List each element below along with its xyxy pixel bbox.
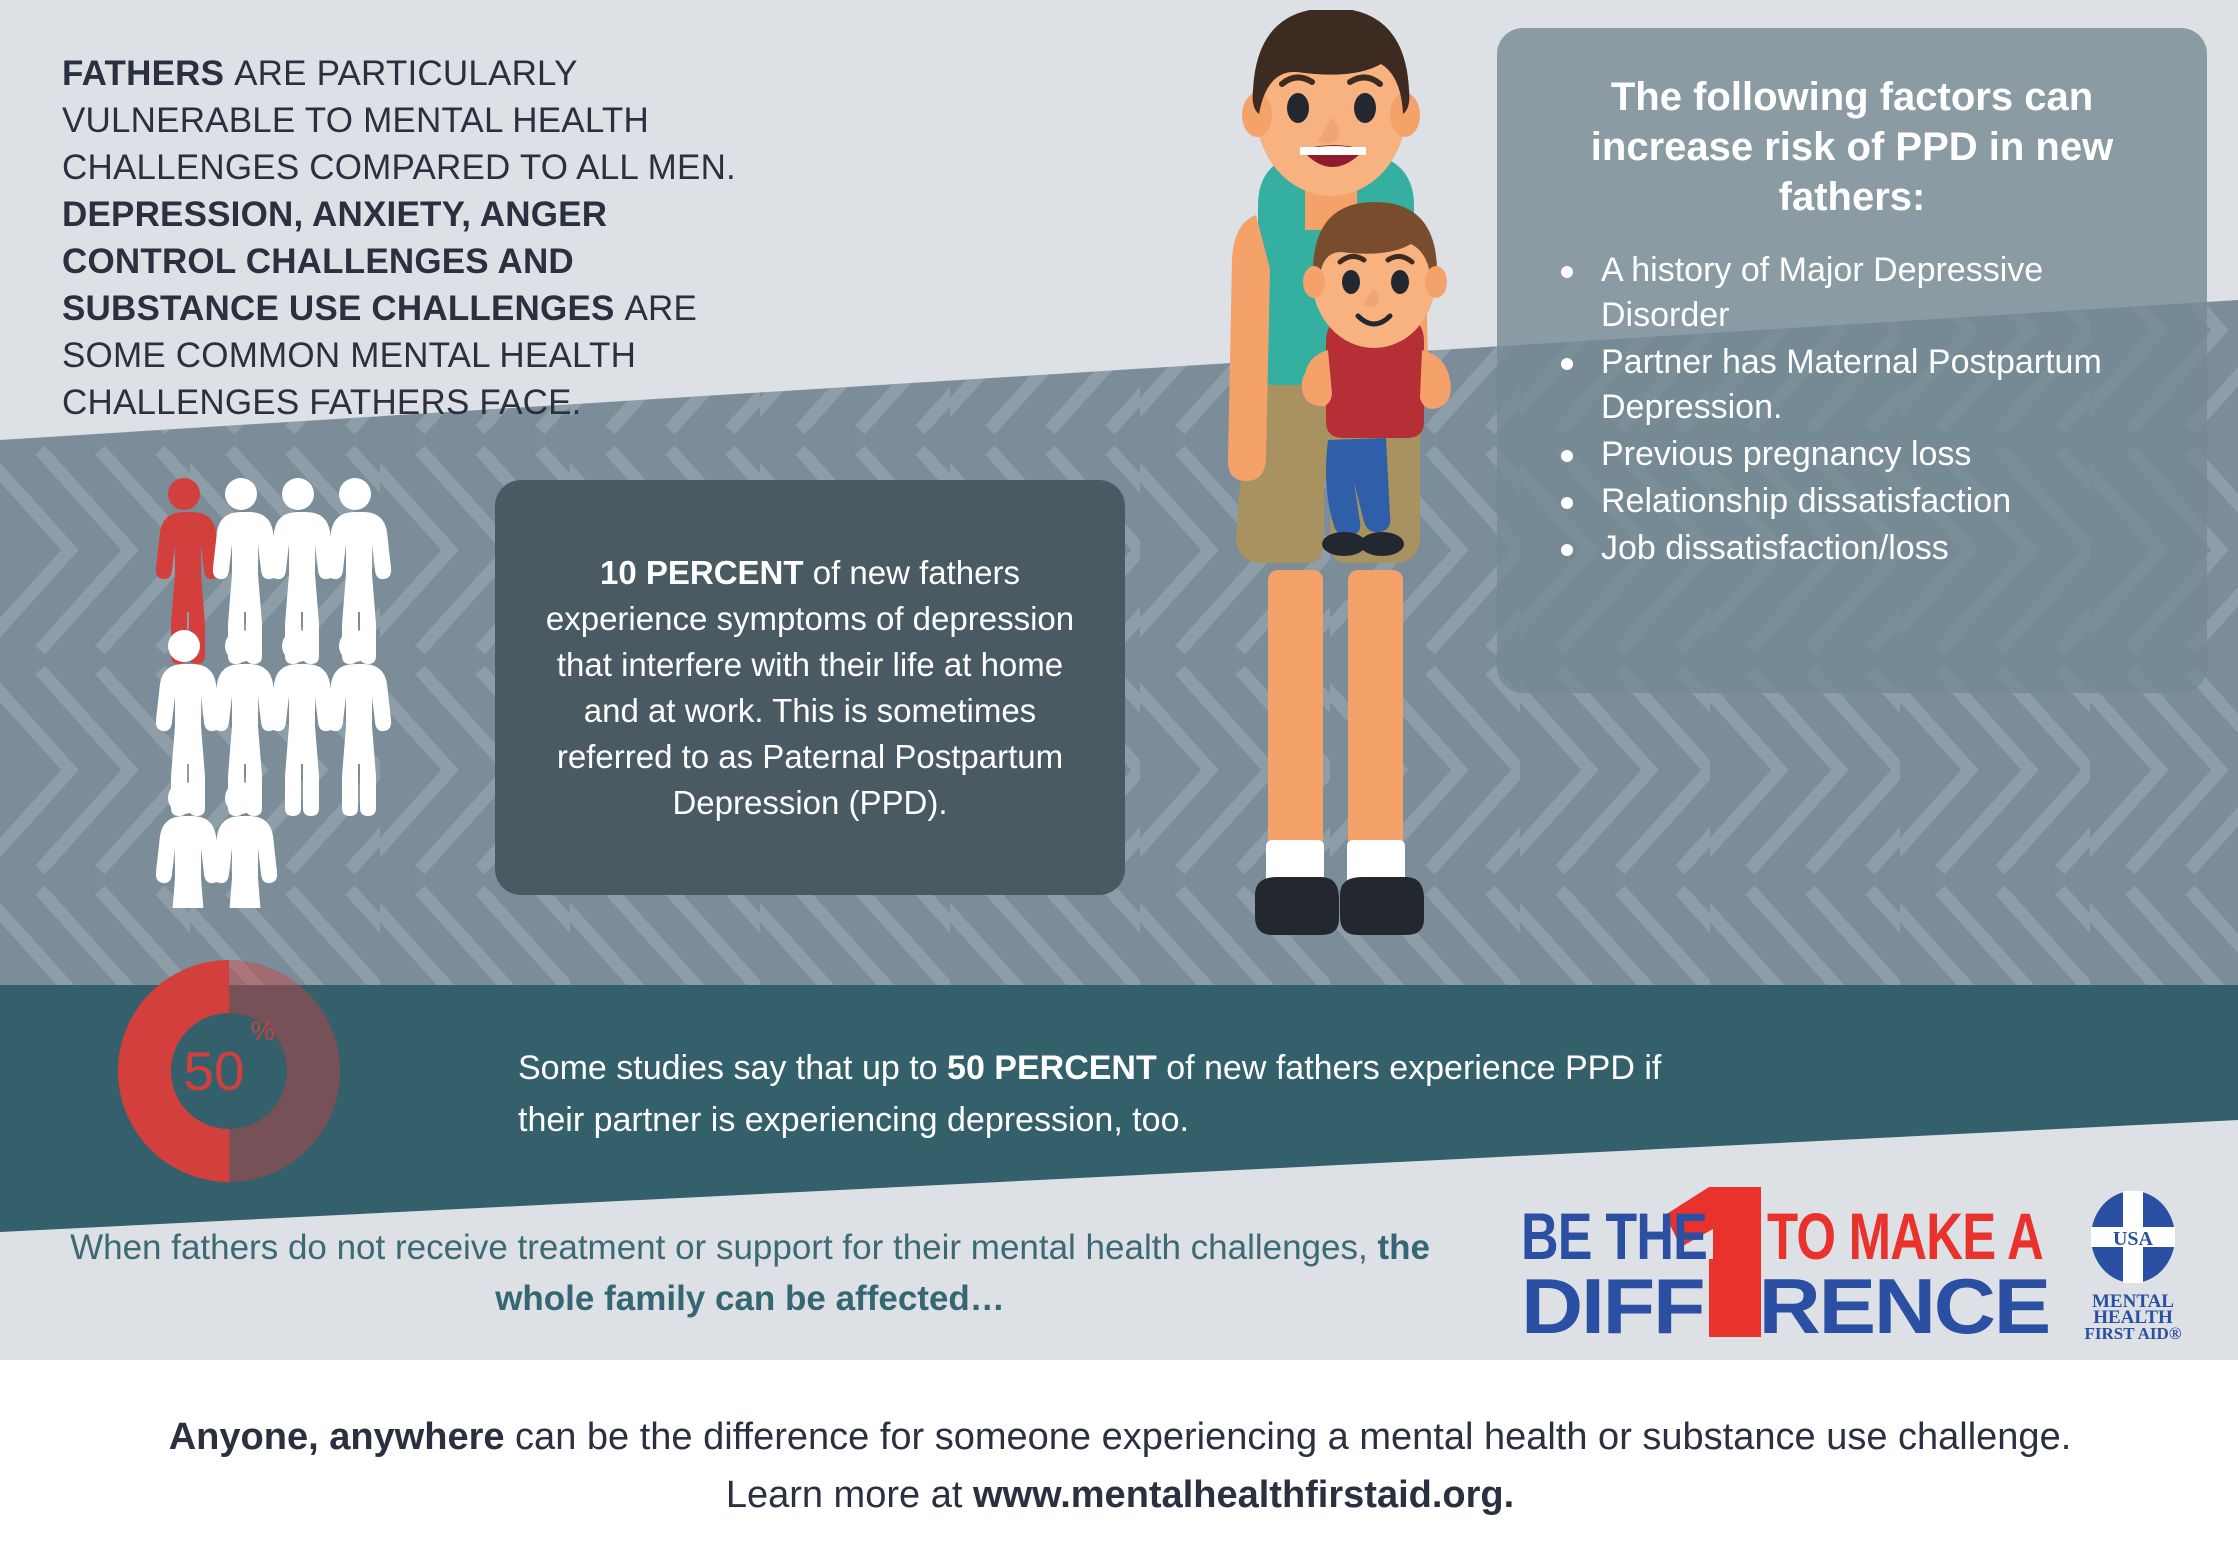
donut-value: 50 [183,1044,244,1099]
page-headline: FATHERS ARE PARTICULARLY VULNERABLE TO M… [62,50,762,426]
people-pictogram [155,478,505,908]
risk-factors-panel: The following factors can increase risk … [1497,28,2207,693]
person-icon-8 [327,630,391,816]
risk-factor-item: Previous pregnancy loss [1555,432,2177,477]
logo-difference: DIFFERENCE [1521,1262,2049,1345]
badge-line-3: FIRST AID® [2085,1324,2182,1343]
mhfa-badge-icon: USA [2091,1191,2175,1283]
be-the-1-logo: BE THE TO MAKE A DIFFERENCE USA MENTAL H… [1513,1185,2193,1345]
footer-statement: Anyone, anywhere can be the difference f… [160,1408,2080,1524]
risk-factor-item: A history of Major Depressive Disorder [1555,248,2177,338]
band-text-rich: Some studies say that up to 50 PERCENT o… [518,1049,1661,1139]
closing-rich: When fathers do not receive treatment or… [70,1228,1430,1318]
infographic-poster: FATHERS ARE PARTICULARLY VULNERABLE TO M… [0,0,2238,1563]
child-figure [1303,202,1451,556]
closing-statement: When fathers do not receive treatment or… [50,1222,1450,1324]
risk-factors-list: A history of Major Depressive DisorderPa… [1527,248,2177,571]
donut-center-label: 50 % [118,960,340,1182]
risk-factor-item: Partner has Maternal Postpartum Depressi… [1555,340,2177,430]
badge-usa-text: USA [2113,1228,2154,1250]
risk-factor-item: Job dissatisfaction/loss [1555,526,2177,571]
donut-unit: % [251,1018,275,1045]
person-icon-7 [270,630,334,816]
risk-factor-item: Relationship dissatisfaction [1555,479,2177,524]
person-icon-9 [156,782,220,908]
ten-percent-callout: 10 PERCENT of new fathers experience sym… [495,480,1125,895]
risk-factors-heading: The following factors can increase risk … [1527,72,2177,222]
person-icon-10 [213,782,277,908]
footer-rich: Anyone, anywhere can be the difference f… [169,1416,2072,1516]
callout-text: 10 PERCENT of new fathers experience sym… [529,550,1091,826]
fifty-percent-band-text: Some studies say that up to 50 PERCENT o… [518,1042,1718,1146]
headline-rich: FATHERS ARE PARTICULARLY VULNERABLE TO M… [62,54,736,422]
